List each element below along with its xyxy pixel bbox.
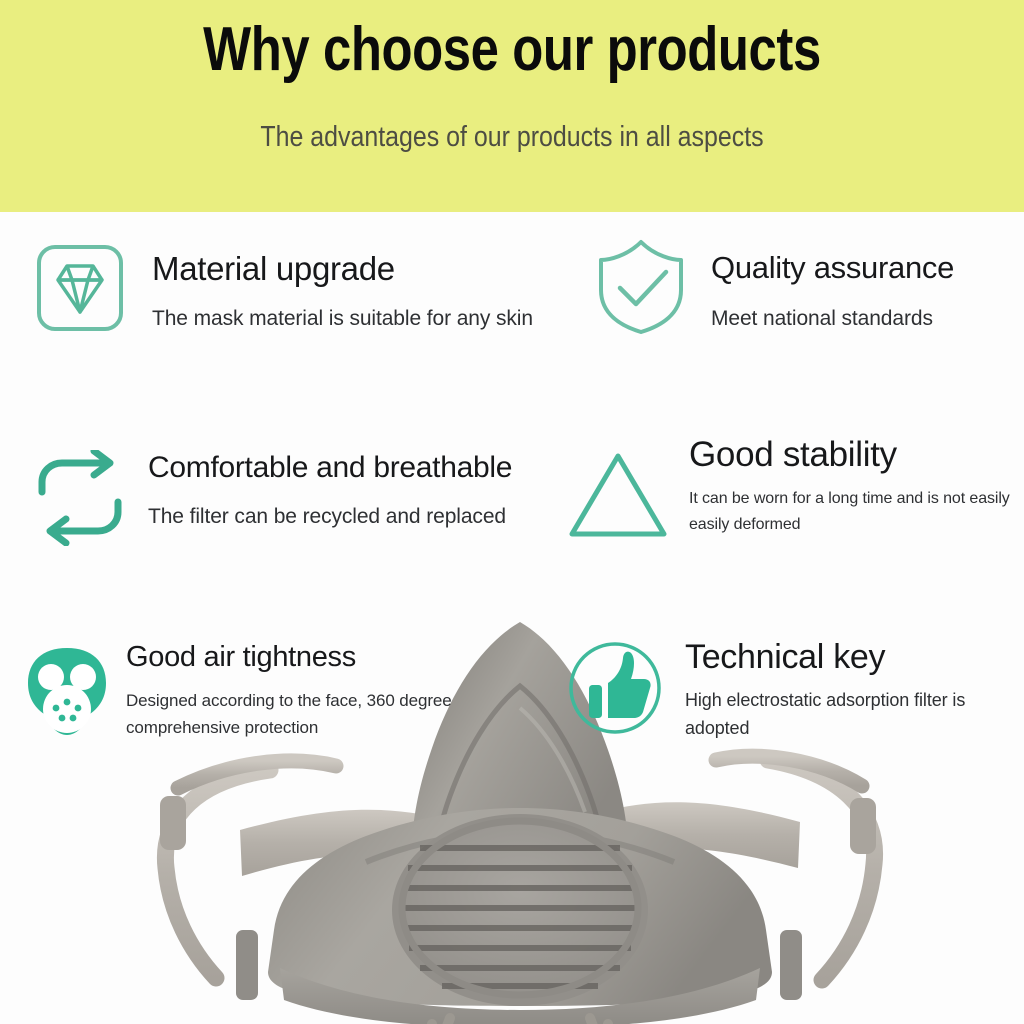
feature-material-upgrade[interactable]: Material upgrade The mask material is su… <box>34 240 533 334</box>
feature-title: Quality assurance <box>711 248 954 288</box>
feature-comfortable-breathable[interactable]: Comfortable and breathable The filter ca… <box>30 444 512 546</box>
feature-description: High electrostatic adsorption filter is … <box>685 686 965 742</box>
feature-desc-line: High electrostatic adsorption filter is <box>685 686 965 714</box>
feature-desc-line: It can be worn for a long time and is no… <box>689 486 1010 512</box>
feature-good-stability[interactable]: Good stability It can be worn for a long… <box>563 432 1010 542</box>
feature-title: Material upgrade <box>152 248 533 290</box>
feature-title: Good stability <box>689 432 1010 478</box>
feature-title: Technical key <box>685 634 965 680</box>
feature-text: Good air tightness Designed according to… <box>126 637 452 741</box>
feature-text: Quality assurance Meet national standard… <box>711 248 954 334</box>
feature-title: Good air tightness <box>126 637 452 677</box>
feature-description: It can be worn for a long time and is no… <box>689 486 1010 538</box>
feature-good-air-tightness[interactable]: Good air tightness Designed according to… <box>24 637 452 741</box>
feature-desc-line: comprehensive protection <box>126 714 452 741</box>
feature-desc-line: The filter can be recycled and replaced <box>148 502 512 532</box>
page-title: Why choose our products <box>92 8 932 92</box>
diamond-in-square-icon <box>34 242 126 334</box>
feature-description: The mask material is suitable for any sk… <box>152 304 533 334</box>
feature-description: Meet national standards <box>711 304 954 334</box>
page-subtitle: The advantages of our products in all as… <box>72 116 953 158</box>
triangle-icon <box>563 446 673 542</box>
feature-desc-line: Meet national standards <box>711 304 954 334</box>
feature-description: The filter can be recycled and replaced <box>148 502 512 532</box>
recycle-arrows-icon <box>30 450 130 546</box>
feature-desc-line: The mask material is suitable for any sk… <box>152 304 533 334</box>
feature-desc-line: easily deformed <box>689 512 1010 538</box>
header-band: Why choose our products The advantages o… <box>0 0 1024 212</box>
feature-technical-key[interactable]: Technical key High electrostatic adsorpt… <box>565 632 965 742</box>
feature-text: Comfortable and breathable The filter ca… <box>148 448 512 532</box>
feature-text: Material upgrade The mask material is su… <box>152 248 533 334</box>
shield-check-icon <box>593 236 689 336</box>
feature-desc-line: Designed according to the face, 360 degr… <box>126 687 452 714</box>
feature-description: Designed according to the face, 360 degr… <box>126 687 452 741</box>
feature-grid: Material upgrade The mask material is su… <box>0 212 1024 1024</box>
thumbs-up-circle-icon <box>565 638 665 738</box>
gas-mask-icon <box>24 645 110 739</box>
feature-text: Technical key High electrostatic adsorpt… <box>685 634 965 742</box>
feature-title: Comfortable and breathable <box>148 448 512 488</box>
feature-quality-assurance[interactable]: Quality assurance Meet national standard… <box>593 234 954 336</box>
infographic-page: Why choose our products The advantages o… <box>0 0 1024 1024</box>
feature-text: Good stability It can be worn for a long… <box>689 432 1010 538</box>
feature-desc-line: adopted <box>685 714 965 742</box>
